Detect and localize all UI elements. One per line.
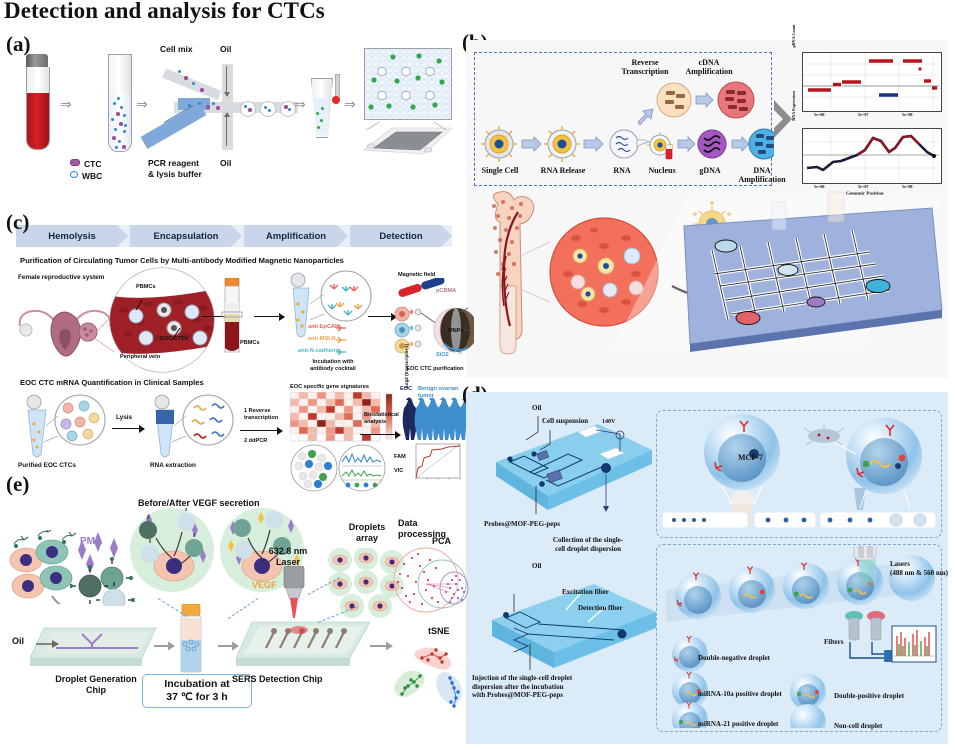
label-voltage: 140V (602, 418, 615, 427)
ctc-swatch (70, 159, 80, 166)
label-collection: Collection of the single- cell droplet d… (528, 536, 648, 553)
panel-e: Before/After VEGF secretion Droplets arr… (8, 478, 460, 746)
label-anti-ncadherin: anti-N-cadherin (298, 348, 339, 355)
legend-label-ctc: CTC (84, 159, 101, 169)
thermometer-icon (332, 74, 340, 108)
arrow-detection: ⇒ (344, 98, 356, 112)
arrow-hemolysis: ⇒ (60, 98, 72, 112)
label-purified-ctcs: Purified EOC CTCs (18, 462, 76, 469)
panel-c: Purification of Circulating Tumor Cells … (8, 216, 460, 474)
arrow-c-5 (240, 430, 282, 431)
label-peripheral-vein: Peripheral vein (120, 354, 160, 361)
label-excitation-fiber: Excitation fiber (562, 588, 609, 597)
label-mcf7: MCF-7 (738, 454, 763, 463)
label-oil-top: Oil (220, 44, 231, 55)
label-single-cell: Single Cell (472, 166, 528, 175)
label-sers-chip: SERS Detection Chip (232, 674, 323, 685)
panel-b: Reverse Transcription cDNA Amplification (466, 40, 948, 378)
chart-gdna-xtick-2: 5e+08 (902, 112, 913, 117)
label-rna-release: RNA Release (534, 166, 592, 175)
label-eoc-ctcs: EOC CTCs (160, 336, 188, 343)
bone-marrow-scene: N S (476, 190, 946, 372)
figure-canvas: Detection and analysis for CTCs (a) ⇒ (0, 0, 955, 750)
label-non-cell: Non-cell droplet (834, 722, 882, 731)
label-mnps: MNPs (448, 328, 464, 335)
chart-gdna-ylabel: gDNA Count (791, 11, 796, 61)
label-fam: FAM (394, 454, 406, 461)
label-anti-epcam: anti-EpCAM (308, 324, 340, 331)
chart-gdna-xtick-0: 5e+06 (814, 112, 825, 117)
label-biostatistical: Biostatistical analysis (364, 412, 399, 426)
panel-d: Oil Cell suspension (466, 392, 948, 744)
legend-label-wbc: WBC (82, 171, 102, 181)
label-e-oil: Oil (12, 636, 24, 647)
microfluidic-junction (148, 58, 298, 154)
label-vic: VIC (394, 468, 403, 475)
figure-title: Detection and analysis for CTCs (4, 0, 325, 24)
arrow-c-4 (112, 428, 144, 429)
label-droplet-chip: Droplet Generation Chip (40, 674, 152, 696)
label-droplets-array: Droplets array (336, 522, 398, 544)
panel-c-heading-top: Purification of Circulating Tumor Cells … (20, 256, 344, 265)
label-female-system: Female reproductive system (18, 274, 104, 281)
label-lasers: Lasers (488 nm & 560 nm) (890, 560, 952, 577)
label-pcr-reagent: PCR reagent & lysis buffer (148, 158, 202, 180)
heatmap-colorbar-label: Log2 (transcripts+1) (404, 340, 409, 392)
wbc-swatch (70, 171, 78, 178)
chart-gdna-xtick-1: 5e+07 (858, 112, 869, 117)
label-laser: 632.8 nm Laser (262, 546, 314, 568)
arrow-c-6 (360, 434, 400, 435)
label-double-positive: Double-positive droplet (834, 692, 904, 701)
blood-tube-icon (24, 54, 50, 150)
label-cell-mix: Cell mix (160, 44, 193, 55)
arrow-c-3 (368, 316, 396, 317)
label-pbmcs-circle: PBMCs (136, 284, 156, 291)
label-dna-amplification: DNA Amplification (734, 166, 790, 184)
hemolysis-tube-icon (106, 54, 132, 154)
arrow-c-2 (254, 316, 284, 317)
arrow-encapsulation: ⇒ (136, 98, 148, 112)
label-rna: RNA (602, 166, 642, 175)
label-mirna10a: miRNA-10a positive droplet (698, 690, 782, 699)
label-pcbma: pCBMA (436, 288, 456, 295)
chart-rna-expression: RNA Expression (802, 128, 942, 184)
label-pbmcs-tube: PBMCs (240, 340, 260, 347)
label-tsne: tSNE (428, 626, 450, 637)
label-step-rt: 1 Reverse transcription (244, 408, 278, 422)
label-mirna21: miRNA-21 positive droplet (698, 720, 778, 729)
label-injection: Injection of the single-cell droplet dis… (472, 674, 652, 700)
label-rna-extraction: RNA extraction (150, 462, 196, 469)
chart-rna-xtick-0: 5e+06 (814, 184, 825, 189)
detection-chip (358, 48, 452, 156)
label-lysis: Lysis (116, 414, 132, 421)
label-gdna: gDNA (690, 166, 730, 175)
label-double-negative: Double-negative droplet (698, 654, 770, 663)
panel-a-legend: CTC WBC (70, 158, 102, 182)
label-step-ddpcr: 2 ddPCR (244, 438, 267, 445)
label-gene-signatures: EOC specific gene signatures (290, 384, 369, 391)
chart-rna-ylabel: RNA Expression (791, 81, 796, 131)
label-nucleus: Nucleus (638, 166, 686, 175)
panel-a: ⇒ CTC WBC ⇒ (8, 40, 452, 212)
label-d-oil-bottom: Oil (532, 562, 541, 571)
panel-c-heading-bottom: EOC CTC mRNA Quantification in Clinical … (20, 378, 204, 387)
chart-rna-xtick-1: 5e+07 (858, 184, 869, 189)
pcr-tube-icon (308, 74, 334, 140)
arrow-amplification: ⇒ (294, 98, 306, 112)
label-detection-fiber: Detection fiber (578, 604, 623, 613)
chart-gdna-count: gDNA Count (802, 52, 942, 112)
label-oil-bottom: Oil (220, 158, 231, 169)
label-probes: Probes@MOF-PEG-peps (484, 520, 560, 529)
chart-rna-xtick-2: 5e+08 (902, 184, 913, 189)
label-sio2: SiO2 (436, 352, 449, 359)
label-incubation: Incubation with antibody cocktail (298, 359, 368, 373)
label-anti-msln: anti-MSLN (308, 336, 336, 343)
label-filters: Filters (824, 638, 843, 647)
label-eoc: EOC (400, 386, 412, 393)
